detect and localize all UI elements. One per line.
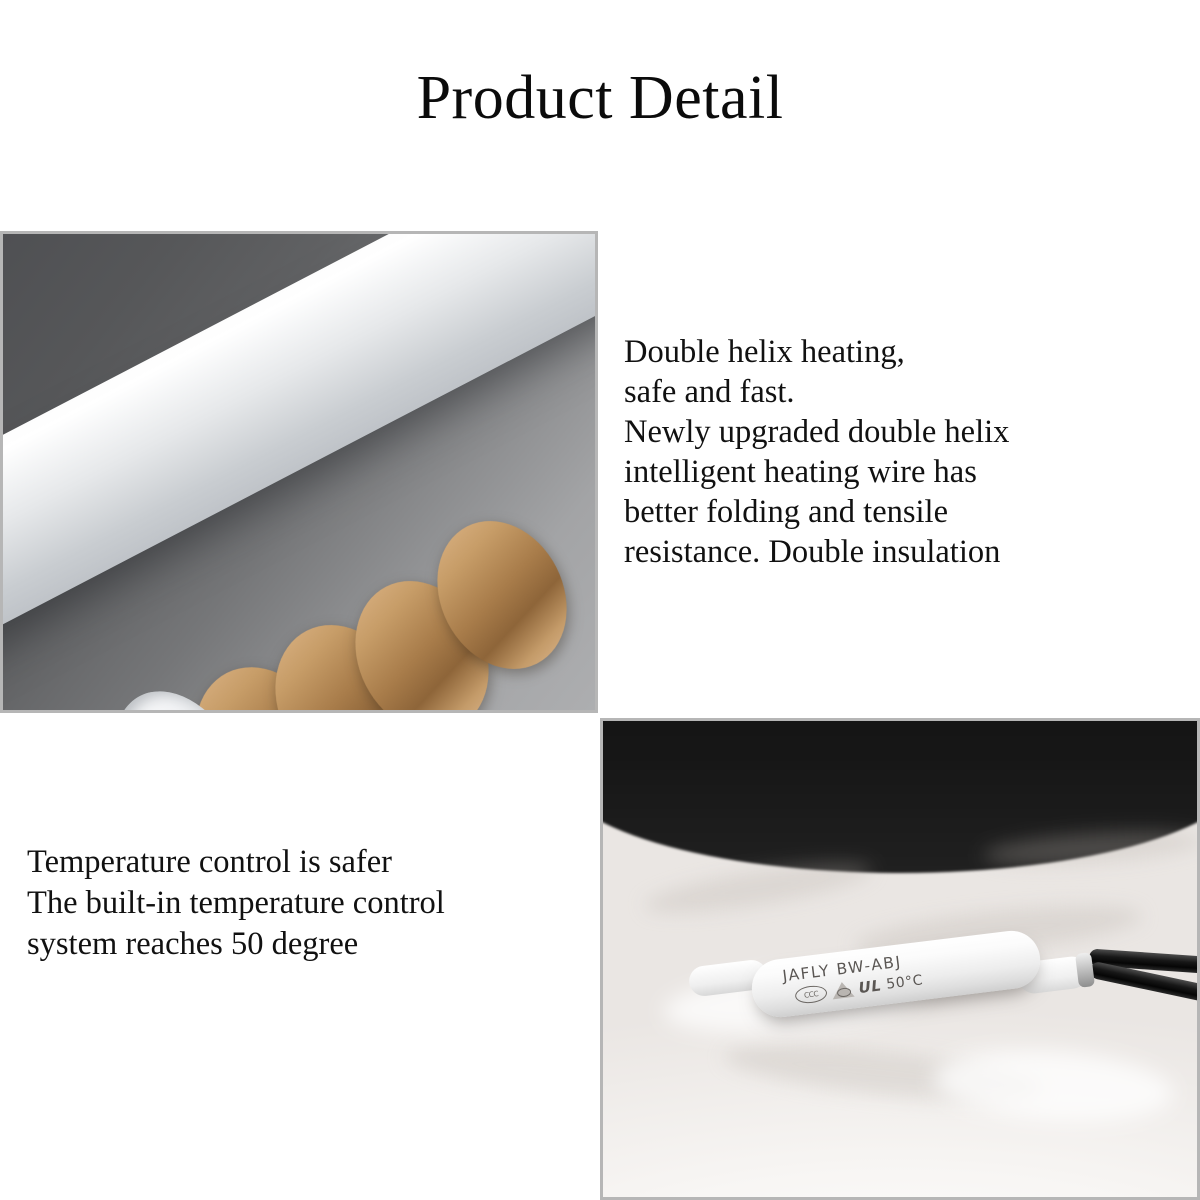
ul-mark-icon: UL	[858, 976, 883, 997]
helix-description-text: Double helix heating, safe and fast. New…	[624, 332, 1180, 572]
triangle-mark-icon	[831, 981, 855, 1000]
thermostat-temp-rating-text: 50°C	[885, 972, 924, 992]
thermostat-photo: JAFLY BW-ABJ CCC UL 50°C	[600, 718, 1200, 1200]
page-title: Product Detail	[0, 66, 1200, 131]
temperature-description-text: Temperature control is safer The built-i…	[27, 842, 593, 965]
ccc-mark-icon: CCC	[794, 984, 828, 1005]
helix-heating-photo	[0, 231, 598, 713]
